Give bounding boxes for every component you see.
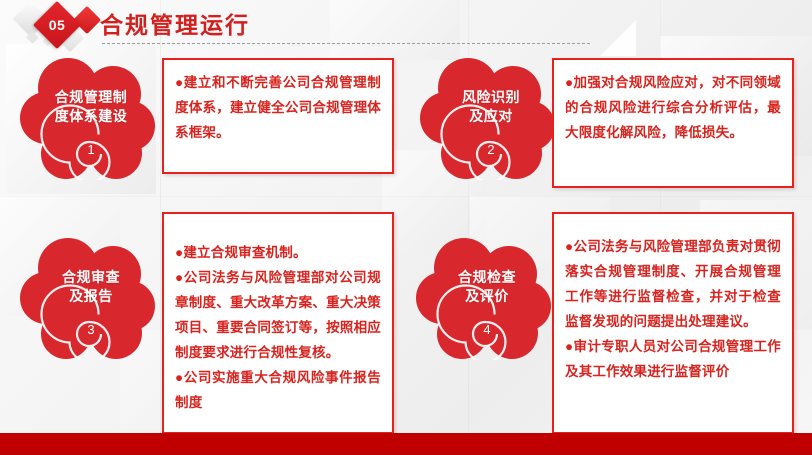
item-label-4: 合规检查 及评价	[414, 268, 560, 306]
item-textbox-1: ●建立和不断完善公司合规管理制度体系，建立健全公司合规管理体系框架。	[162, 58, 394, 174]
item-textbox-4: ●公司法务与风险管理部负责对贯彻落实合规管理制度、开展合规管理工作等进行监督检查…	[552, 212, 794, 434]
item-textbox-2: ●加强对合规风险应对，对不同领域的合规风险进行综合分析评估，最大限度化解风险，降…	[552, 58, 794, 188]
item-bullet-3-2: ●公司法务与风险管理部对公司规章制度、重大改革方案、重大决策项目、重要合同签订等…	[175, 265, 381, 365]
item-index-4: 4	[414, 322, 560, 337]
cloud-badge-icon-3: 合规审查 及报告 3	[18, 238, 164, 360]
item-index-2: 2	[418, 142, 564, 157]
item-bullet-3-1: ●建立合规审查机制。	[175, 240, 381, 265]
step-number-badge: 05	[40, 8, 74, 42]
diamond-icon-red-small	[73, 6, 101, 34]
item-bullet-1-1: ●建立和不断完善公司合规管理制度体系，建立健全公司合规管理体系框架。	[175, 70, 381, 145]
item-label-line1-3: 合规审查	[62, 269, 120, 285]
item-bullet-4-2: ●审计专职人员对公司合规管理工作及其工作效果进行监督评价	[565, 334, 781, 384]
title-divider	[102, 43, 590, 44]
item-label-line1-1: 合规管理制	[55, 89, 128, 105]
item-bullet-3-3: ●公司实施重大合规风险事件报告制度	[175, 365, 381, 415]
bg-line-3	[0, 196, 812, 197]
slide-canvas: 05 合规管理运行 合规	[0, 0, 812, 455]
item-label-3: 合规审查 及报告	[18, 268, 164, 306]
item-label-1: 合规管理制 度体系建设	[18, 88, 164, 126]
cloud-badge-icon-2: 风险识别 及应对 2	[418, 58, 564, 180]
item-label-line1-4: 合规检查	[458, 269, 516, 285]
item-label-line2-3: 及报告	[69, 288, 113, 304]
footer-band	[0, 433, 812, 455]
cloud-badge-icon-1: 合规管理制 度体系建设 1	[18, 58, 164, 180]
item-label-line2-2: 及应对	[469, 108, 513, 124]
item-index-3: 3	[18, 322, 164, 337]
slide-header: 05 合规管理运行	[0, 0, 812, 52]
item-label-line1-2: 风险识别	[462, 89, 520, 105]
cloud-badge-icon-4: 合规检查 及评价 4	[414, 238, 560, 360]
item-bullet-4-1: ●公司法务与风险管理部负责对贯彻落实合规管理制度、开展合规管理工作等进行监督检查…	[565, 234, 781, 334]
item-bullet-2-1: ●加强对合规风险应对，对不同领域的合规风险进行综合分析评估，最大限度化解风险，降…	[565, 70, 781, 145]
page-title: 合规管理运行	[100, 8, 250, 42]
item-label-2: 风险识别 及应对	[418, 88, 564, 126]
item-textbox-3: ●建立合规审查机制。 ●公司法务与风险管理部对公司规章制度、重大改革方案、重大决…	[162, 212, 394, 434]
item-index-1: 1	[18, 142, 164, 157]
item-label-line2-4: 及评价	[465, 288, 509, 304]
item-label-line2-1: 度体系建设	[55, 108, 128, 124]
